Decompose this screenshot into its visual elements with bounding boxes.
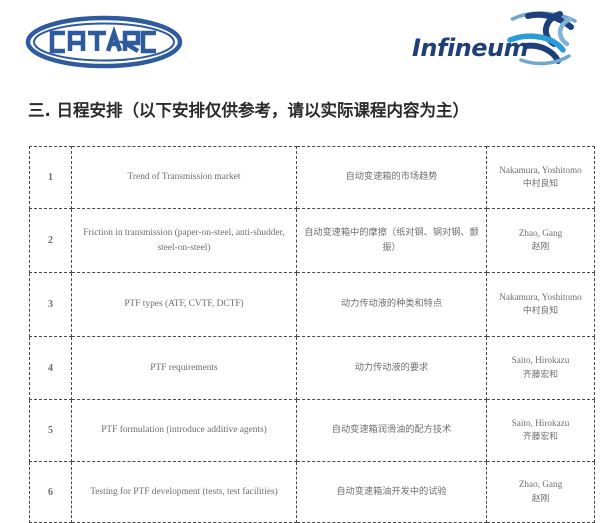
speaker-name-english: Zhao, Gang — [519, 228, 562, 238]
table-row: 3 PTF types (ATF, CVTF, DCTF) 动力传动液的种类和特… — [30, 273, 595, 337]
page-title: 三. 日程安排（以下安排仅供参考，请以实际课程内容为主） — [28, 97, 469, 121]
speaker-cell: Zhao, Gang 赵刚 — [487, 462, 595, 523]
speaker-name-english: Saito, Hirokazu — [512, 355, 570, 365]
speaker-name-chinese: 齐藤宏和 — [523, 432, 558, 442]
topic-english: PTF types (ATF, CVTF, DCTF) — [72, 273, 297, 337]
speaker-cell: Nakamura, Yoshitomo 中村良知 — [487, 147, 595, 209]
table-row: 1 Trend of Transmission market 自动变速箱的市场趋… — [30, 147, 595, 209]
infineum-logo: Infineum — [410, 8, 585, 76]
topic-english: Testing for PTF development (tests, test… — [72, 462, 297, 523]
row-number: 1 — [30, 147, 72, 209]
page-header: Infineum — [0, 0, 600, 88]
row-number: 3 — [30, 273, 72, 337]
table-row: 5 PTF formulation (introduce additive ag… — [30, 400, 595, 462]
topic-chinese: 自动变速箱润滑油的配方技术 — [297, 400, 487, 462]
topic-english: Friction in transmission (paper-on-steel… — [72, 209, 297, 273]
schedule-table-container: 1 Trend of Transmission market 自动变速箱的市场趋… — [29, 146, 558, 523]
speaker-name-chinese: 赵刚 — [532, 242, 550, 252]
topic-english: PTF requirements — [72, 337, 297, 400]
topic-english: Trend of Transmission market — [72, 147, 297, 209]
speaker-cell: Saito, Hirokazu 齐藤宏和 — [487, 337, 595, 400]
speaker-name-english: Nakamura, Yoshitomo — [499, 292, 581, 302]
row-number: 5 — [30, 400, 72, 462]
topic-chinese: 自动变速箱油开发中的试验 — [297, 462, 487, 523]
speaker-cell: Saito, Hirokazu 齐藤宏和 — [487, 400, 595, 462]
svg-text:Infineum: Infineum — [412, 34, 528, 62]
speaker-name-chinese: 中村良知 — [523, 179, 558, 189]
table-row: 2 Friction in transmission (paper-on-ste… — [30, 209, 595, 273]
row-number: 6 — [30, 462, 72, 523]
speaker-name-chinese: 齐藤宏和 — [523, 370, 558, 380]
table-row: 4 PTF requirements 动力传动液的要求 Saito, Hirok… — [30, 337, 595, 400]
cataric-logo — [24, 14, 184, 70]
topic-chinese: 动力传动液的种类和特点 — [297, 273, 487, 337]
topic-chinese: 动力传动液的要求 — [297, 337, 487, 400]
schedule-table: 1 Trend of Transmission market 自动变速箱的市场趋… — [29, 146, 595, 523]
topic-chinese: 自动变速箱中的摩擦（纸对钢、钢对钢、颤振） — [297, 209, 487, 273]
topic-english: PTF formulation (introduce additive agen… — [72, 400, 297, 462]
speaker-name-english: Nakamura, Yoshitomo — [499, 165, 581, 175]
row-number: 4 — [30, 337, 72, 400]
speaker-name-english: Saito, Hirokazu — [512, 418, 570, 428]
speaker-name-english: Zhao, Gang — [519, 479, 562, 489]
topic-chinese: 自动变速箱的市场趋势 — [297, 147, 487, 209]
table-row: 6 Testing for PTF development (tests, te… — [30, 462, 595, 523]
speaker-cell: Zhao, Gang 赵刚 — [487, 209, 595, 273]
row-number: 2 — [30, 209, 72, 273]
speaker-cell: Nakamura, Yoshitomo 中村良知 — [487, 273, 595, 337]
speaker-name-chinese: 中村良知 — [523, 306, 558, 316]
